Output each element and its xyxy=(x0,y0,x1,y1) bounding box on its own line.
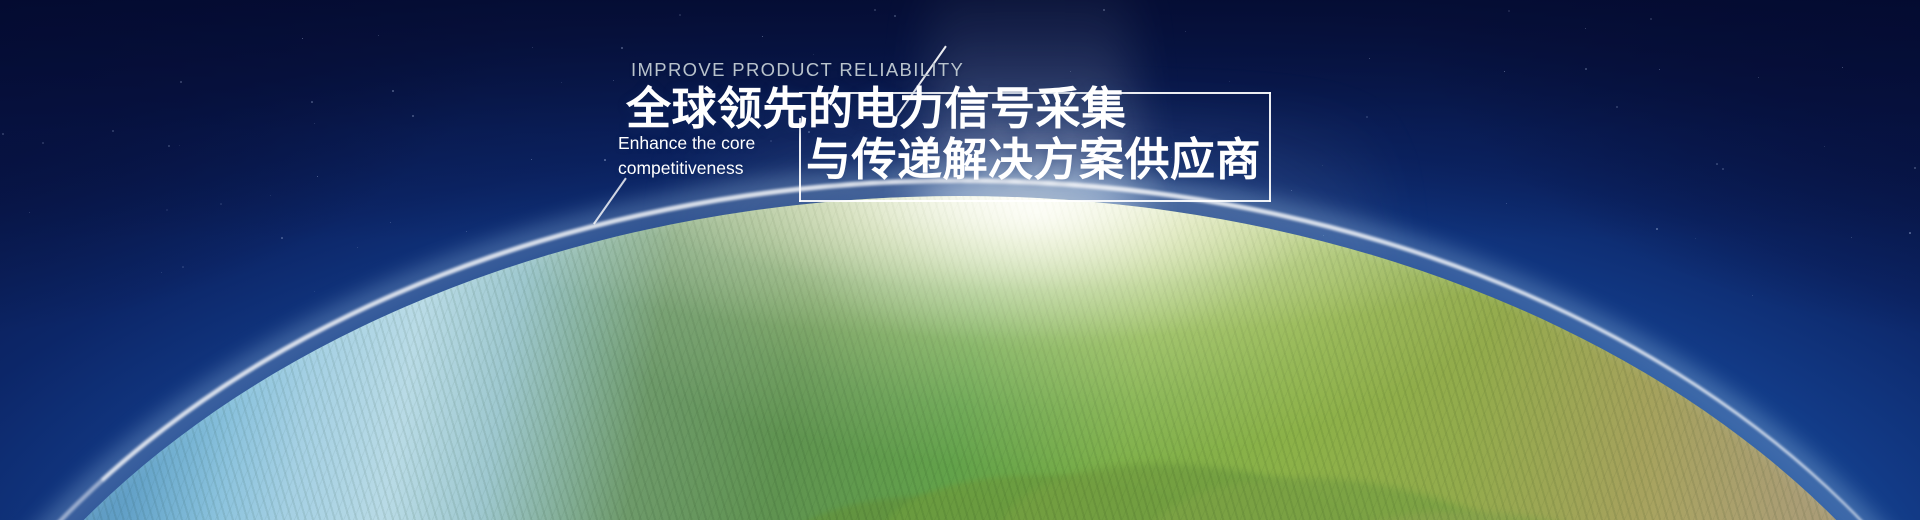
hero-banner: IMPROVE PRODUCT RELIABILITY 全球领先的电力信号采集 … xyxy=(0,0,1920,520)
banner-headline-line2: 与传递解决方案供应商 xyxy=(806,134,1261,186)
banner-kicker: IMPROVE PRODUCT RELIABILITY xyxy=(631,59,964,81)
banner-subline: Enhance the core competitiveness xyxy=(618,131,788,181)
banner-content: IMPROVE PRODUCT RELIABILITY 全球领先的电力信号采集 … xyxy=(0,0,1920,520)
banner-headline-line1: 全球领先的电力信号采集 xyxy=(626,84,1127,134)
